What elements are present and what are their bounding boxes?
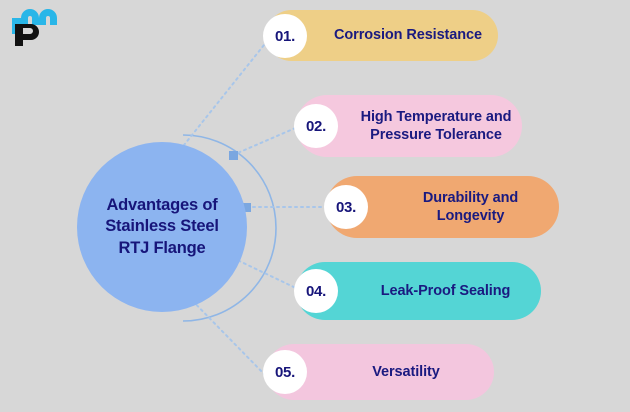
infographic-canvas: Advantages of Stainless Steel RTJ Flange… (0, 0, 630, 412)
item-number-4: 04. (306, 283, 326, 300)
item-label-1-line-1: Corrosion Resistance (318, 26, 498, 44)
hub-title: Advantages of Stainless Steel RTJ Flange (95, 195, 228, 259)
item-label-3-line-1: Durability and (382, 189, 559, 207)
connector-line-1 (180, 40, 268, 150)
item-number-circle-5[interactable]: 05. (263, 350, 307, 394)
item-label-3-line-2: Longevity (382, 207, 559, 225)
hub-title-line-3: RTJ Flange (105, 238, 218, 259)
connector-line-4 (233, 258, 300, 290)
item-number-3: 03. (336, 199, 356, 216)
item-label-4-line-1: Leak-Proof Sealing (350, 282, 541, 300)
item-number-1: 01. (275, 28, 295, 45)
item-number-circle-2[interactable]: 02. (294, 104, 338, 148)
item-number-2: 02. (306, 118, 326, 135)
item-label-2-line-1: High Temperature and (350, 108, 522, 126)
arc-node-2 (229, 151, 238, 160)
connector-line-2 (233, 126, 300, 155)
central-hub-circle: Advantages of Stainless Steel RTJ Flange (77, 142, 247, 312)
item-number-circle-1[interactable]: 01. (263, 14, 307, 58)
item-number-5: 05. (275, 364, 295, 381)
item-label-2-line-2: Pressure Tolerance (350, 126, 522, 144)
hub-title-line-1: Advantages of (105, 195, 218, 216)
hub-title-line-2: Stainless Steel (105, 216, 218, 237)
item-label-5-line-1: Versatility (318, 363, 494, 381)
item-number-circle-3[interactable]: 03. (324, 185, 368, 229)
item-number-circle-4[interactable]: 04. (294, 269, 338, 313)
